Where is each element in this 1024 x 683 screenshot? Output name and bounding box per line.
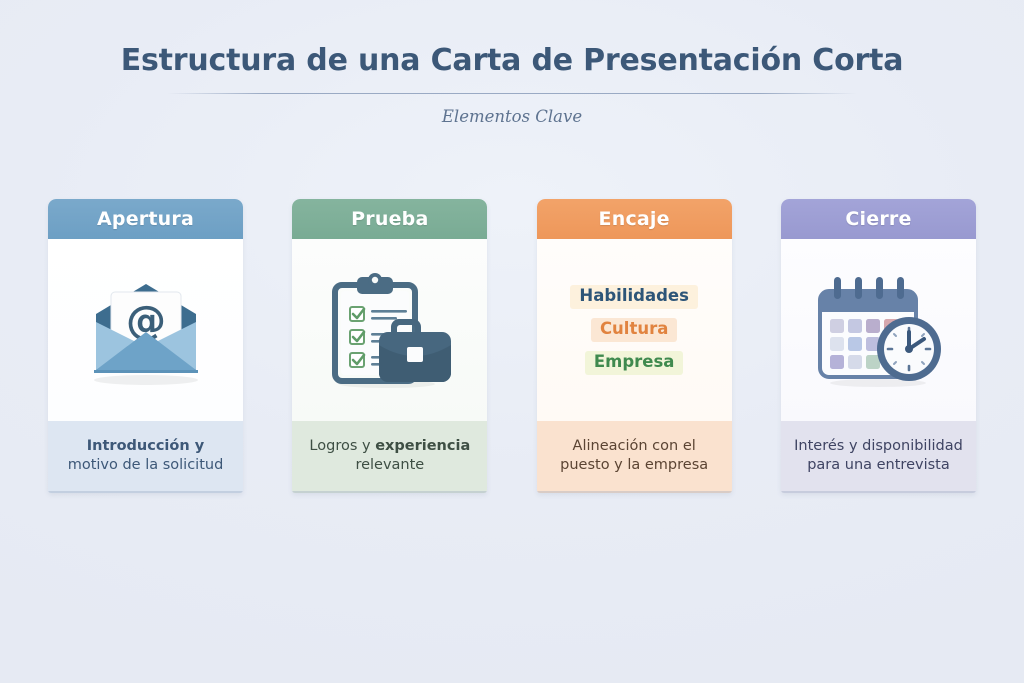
caption-line-2: motivo de la solicitud (68, 456, 224, 475)
page-header: Estructura de una Carta de Presentación … (0, 44, 1024, 126)
infographic-page: Estructura de una Carta de Presentación … (0, 0, 1024, 683)
tag-cultura: Cultura (591, 318, 677, 342)
card-cierre[interactable]: Cierre (781, 199, 976, 493)
tag-empresa: Empresa (585, 351, 684, 375)
card-cierre-title: Cierre (781, 199, 976, 239)
card-apertura-caption: Introducción y motivo de la solicitud (48, 421, 243, 493)
card-encaje[interactable]: Encaje Habilidades Cultura Empresa Aline… (537, 199, 732, 493)
card-apertura[interactable]: Apertura @ (48, 199, 243, 493)
calendar-clock-icon (808, 269, 948, 391)
card-apertura-title: Apertura (48, 199, 243, 239)
envelope-at-icon: @ (80, 270, 212, 390)
card-encaje-title: Encaje (537, 199, 732, 239)
tag-habilidades: Habilidades (570, 285, 698, 309)
card-apertura-body: @ (48, 239, 243, 421)
caption-line-2: para una entrevista (807, 456, 950, 475)
cards-row: Apertura @ (48, 199, 976, 493)
caption-text-normal: Logros y (309, 438, 375, 454)
caption-line-2: puesto y la empresa (560, 456, 708, 475)
card-encaje-body: Habilidades Cultura Empresa (537, 239, 732, 421)
caption-line-1: Interés y disponibilidad (794, 437, 963, 456)
card-prueba-caption: Logros y experiencia relevante (292, 421, 487, 493)
card-cierre-caption: Interés y disponibilidad para una entrev… (781, 421, 976, 493)
clipboard-briefcase-icon (321, 267, 459, 393)
card-cierre-body (781, 239, 976, 421)
caption-text-strong: experiencia (375, 438, 470, 454)
card-prueba-title: Prueba (292, 199, 487, 239)
keyword-tags: Habilidades Cultura Empresa (570, 285, 698, 375)
page-title: Estructura de una Carta de Presentación … (0, 44, 1024, 79)
caption-line-1: Logros y experiencia (309, 437, 470, 456)
title-divider (167, 93, 857, 94)
card-encaje-caption: Alineación con el puesto y la empresa (537, 421, 732, 493)
card-prueba[interactable]: Prueba (292, 199, 487, 493)
caption-line-1: Alineación con el (573, 437, 696, 456)
caption-line-1: Introducción y (87, 437, 204, 456)
card-prueba-body (292, 239, 487, 421)
page-subtitle: Elementos Clave (0, 107, 1024, 126)
caption-line-2: relevante (355, 456, 424, 475)
